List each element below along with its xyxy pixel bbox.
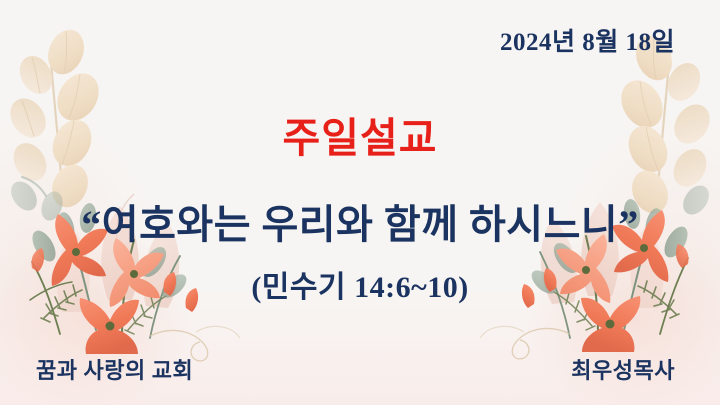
pastor-name: 최우성목사 [571,353,675,385]
sermon-title: “여호와는 우리와 함께 하시느니” [0,192,720,250]
scripture-reference: (민수기 14:6~10) [0,262,720,306]
gold-filigree [196,326,524,338]
sermon-slide: 2024년 8월 18일 주일설교 “여호와는 우리와 함께 하시느니” (민수… [0,0,720,405]
coral-poppy [80,298,139,354]
church-name: 꿈과 사랑의 교회 [36,353,193,385]
sermon-date: 2024년 8월 18일 [500,22,675,58]
sermon-type-label: 주일설교 [0,104,720,164]
